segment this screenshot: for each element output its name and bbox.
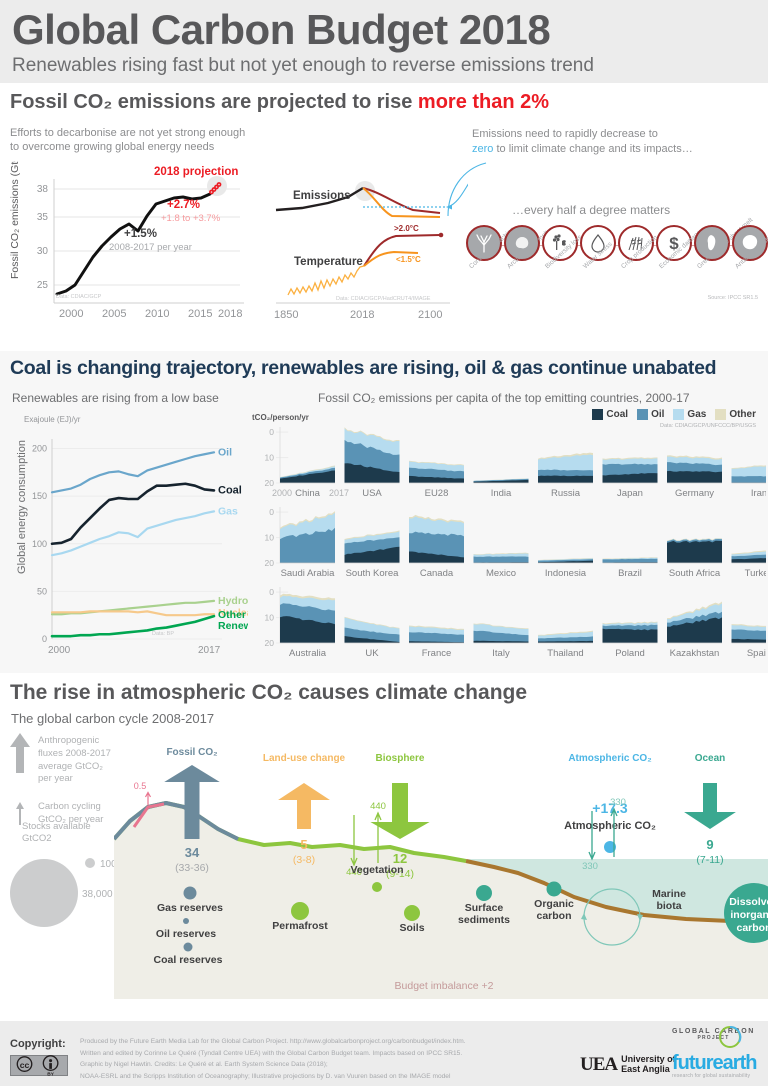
- flux-label-fossil-co: Fossil CO₂: [166, 747, 217, 758]
- section-carbon-cycle: The rise in atmospheric CO₂ causes clima…: [0, 673, 768, 1021]
- percapita-country-label-india: India: [491, 488, 512, 499]
- copyright-label: Copyright:: [10, 1038, 66, 1050]
- chart-b-xtick-2: 2100: [418, 309, 442, 321]
- right-note-pre: Emissions need to rapidly decrease to: [472, 128, 658, 140]
- stock-label-marine-biota-1: biota: [656, 900, 681, 912]
- stock-label-dissolved-inorganic-carbon-1: inorganic: [730, 909, 768, 921]
- percapita-ytick-r1-2: 0: [269, 507, 274, 517]
- uea-name: University of East Anglia: [621, 1055, 676, 1075]
- stock-bubble-organic-carbon: [547, 881, 562, 896]
- flux-label-atmospheric-co: Atmospheric CO₂: [568, 753, 651, 764]
- stock-label-vegetation-0: Vegetation: [350, 864, 403, 876]
- flux-value-land-use-change: 5: [300, 837, 307, 852]
- half-degree-note: …every half a degree matters: [512, 203, 670, 217]
- energy-line-oil: [52, 452, 214, 492]
- key-anthropogenic-text: Anthropogenic fluxes 2008-2017 average G…: [38, 731, 111, 786]
- budget-imbalance-label: Budget imbalance +2: [395, 980, 494, 992]
- gcp-logo: GLOBAL CARBON PROJECT: [672, 1028, 755, 1041]
- percapita-area-russia-coal: [538, 476, 593, 483]
- chart-a-xtick-3: 2015: [188, 308, 212, 320]
- stock-bubble-vegetation: [372, 882, 382, 892]
- chart-fossil-emissions: Fossil CO₂ emissions (GtCO₂/yr) 38 35 30…: [4, 161, 272, 326]
- percapita-ytick-r2-0: 20: [265, 638, 275, 648]
- chart-b-source: Data: CDIAC/GCP/HadCRUT4/IMAGE: [336, 296, 431, 302]
- copyright-line-3: NOAA-ESRL and the Scripps Institution of…: [80, 1071, 466, 1083]
- chart-b-temperature-label: Temperature: [294, 256, 363, 268]
- stock-bubble-permafrost: [291, 902, 309, 920]
- percapita-area-spain-coal: [732, 639, 767, 643]
- uea-line-1: University of: [621, 1054, 676, 1064]
- stock-bubble-oil-reserves: [183, 918, 189, 924]
- flux-range-land-use-change: (3-8): [293, 854, 315, 866]
- percapita-ytick-r2-1: 10: [265, 613, 275, 623]
- flux-range-fossil-co: (33-36): [175, 862, 209, 874]
- percapita-country-label-spain: Spain: [747, 648, 766, 659]
- percapita-country-label-mexico: Mexico: [486, 568, 516, 579]
- page-title: Global Carbon Budget 2018: [12, 8, 756, 52]
- energy-xtick-0: 2000: [48, 645, 71, 656]
- flux-range-ocean: (7-11): [696, 854, 723, 866]
- stock-bubble-soils: [404, 905, 420, 921]
- stock-bubble-large: [10, 859, 78, 927]
- energy-label-oil: Oil: [218, 446, 232, 458]
- ipcc-source: Source: IPCC SR1.5: [708, 295, 758, 301]
- stock-label-soils-0: Soils: [399, 922, 424, 934]
- energy-ytick-4: 0: [42, 634, 47, 644]
- percapita-country-label-kazakhstan: Kazakhstan: [670, 648, 720, 659]
- flux-value-ocean: 9: [706, 837, 713, 852]
- right-note-zero: zero: [472, 143, 493, 155]
- stock-label-organic-carbon-0: Organic: [534, 898, 574, 910]
- energy-label-hydro: Hydro: [218, 595, 248, 607]
- percapita-country-label-usa: USA: [362, 488, 382, 499]
- copyright-line-0: Produced by the Future Earth Media Lab f…: [80, 1036, 466, 1048]
- percapita-country-label-russia: Russia: [551, 488, 581, 499]
- stocks-key-label: Stocks available GtCO2: [22, 821, 91, 846]
- chart-b-xtick-1: 2018: [350, 309, 374, 321]
- section3-heading: The rise in atmospheric CO₂ causes clima…: [10, 681, 527, 705]
- energy-source: Data: BP: [152, 631, 174, 637]
- stock-label-surface-sediments-1: sediments: [458, 914, 510, 926]
- section1-right-note: Emissions need to rapidly decrease to ze…: [472, 127, 693, 157]
- flux-arrow-ocean: [684, 783, 736, 829]
- section-energy: Coal is changing trajectory, renewables …: [0, 351, 768, 673]
- flux-range-atmospheric-co: Atmospheric CO₂: [564, 820, 656, 832]
- key-big-arrow-icon: [8, 731, 32, 775]
- page-subtitle: Renewables rising fast but not yet enoug…: [12, 56, 756, 77]
- carbon-cycle-diagram: 0.5Fossil CO₂34(33-36)Land-use change5(3…: [114, 721, 768, 1011]
- cc-by-icon: cc BY: [11, 1055, 67, 1076]
- section1-heading: Fossil CO₂ emissions are projected to ri…: [10, 91, 549, 114]
- chart-a-ytick-3: 25: [37, 280, 49, 291]
- percapita-xtick-last: 2017: [329, 488, 349, 498]
- section2-heading: Coal is changing trajectory, renewables …: [10, 357, 716, 380]
- percapita-country-label-uk: UK: [365, 648, 379, 659]
- energy-label-other-renewables-1: Renewables: [218, 620, 248, 632]
- uea-mark: UEA: [580, 1054, 617, 1076]
- percapita-xtick-first: 2000: [272, 488, 292, 498]
- gcp-ring-icon: [668, 1026, 754, 1048]
- svg-text:cc: cc: [20, 1060, 30, 1070]
- chart-a-xtick-1: 2005: [102, 308, 126, 320]
- chart-percapita-grid: 201002010020100ChinaUSAEU28IndiaRussiaJa…: [246, 415, 766, 665]
- stock-label-gas-reserves-0: Gas reserves: [157, 902, 223, 914]
- chart-b-hot-label: >2.0°C: [394, 224, 419, 233]
- future-earth-name: futurearth: [672, 1053, 756, 1073]
- chart-a-xtick-0: 2000: [59, 308, 83, 320]
- percapita-ytick-r0-1: 10: [265, 453, 275, 463]
- percapita-country-label-thailand: Thailand: [547, 648, 583, 659]
- chart-a-trend: +1.5%: [124, 228, 157, 240]
- chart-a-xtick-2: 2010: [145, 308, 169, 320]
- chart-scenarios: 1850 2018 2100 Emissions >2.0°C <1.5°C T…: [268, 161, 468, 326]
- percapita-country-label-turkey: Turkey: [745, 568, 766, 579]
- percapita-country-label-south-korea: South Korea: [346, 568, 400, 579]
- section2-subtitle-right: Fossil CO₂ emissions per capita of the t…: [318, 391, 690, 405]
- flux-label-biosphere: Biosphere: [376, 753, 425, 764]
- copyright-line-1: Written and edited by Corinne Le Quéré (…: [80, 1048, 466, 1060]
- stock-label-coal-reserves-0: Coal reserves: [154, 954, 223, 966]
- flux-label-ocean: Ocean: [695, 753, 726, 764]
- stocks-key-bubbles: 1000 38,000: [8, 851, 118, 931]
- cycle-value-ocean-up: 330: [610, 797, 626, 808]
- stock-label-oil-reserves-0: Oil reserves: [156, 928, 216, 940]
- zero-curve-connector: [446, 161, 516, 221]
- energy-ytick-0: 200: [32, 444, 47, 454]
- stock-bubble-surface-sediments: [476, 885, 492, 901]
- cycle-arrow-ocean-down: [589, 811, 595, 859]
- chart-a-ytick-1: 35: [37, 212, 49, 223]
- section1-heading-plain: Fossil CO₂ emissions are projected to ri…: [10, 91, 418, 113]
- energy-ytick-3: 50: [37, 586, 47, 596]
- copyright-text: Produced by the Future Earth Media Lab f…: [80, 1036, 466, 1082]
- percapita-ytick-r0-2: 0: [269, 427, 274, 437]
- section1-left-note: Efforts to decarbonise are not yet stron…: [10, 127, 245, 155]
- fossil-small-flux-value: 0.5: [134, 781, 147, 791]
- section1-heading-highlight: more than 2%: [418, 91, 549, 113]
- percapita-area-south-africa-coal: [667, 541, 722, 563]
- percapita-area-germany-coal: [667, 471, 722, 483]
- flux-value-fossil-co: 34: [185, 845, 200, 860]
- uea-line-2: East Anglia: [621, 1064, 670, 1074]
- percapita-country-label-indonesia: Indonesia: [545, 568, 587, 579]
- percapita-country-label-canada: Canada: [420, 568, 454, 579]
- chart-b-cool-label: <1.5°C: [396, 255, 421, 264]
- percapita-country-label-australia: Australia: [289, 648, 327, 659]
- svg-text:BY: BY: [47, 1072, 54, 1076]
- percapita-ytick-r1-1: 10: [265, 533, 275, 543]
- energy-line-nuclear: [52, 611, 214, 615]
- energy-ytick-1: 150: [32, 491, 47, 501]
- creative-commons-badge: cc BY: [10, 1055, 68, 1076]
- energy-label-gas: Gas: [218, 505, 238, 517]
- chart-a-pct: +2.7%: [167, 199, 200, 211]
- percapita-country-label-south-africa: South Africa: [669, 568, 721, 579]
- chart-b-emissions-label: Emissions: [293, 190, 351, 202]
- flux-arrow-land-use-change: [278, 783, 330, 829]
- cycle-value-ocean-down: 330: [582, 861, 598, 872]
- uea-logo: UEA University of East Anglia: [580, 1054, 676, 1076]
- copyright-line-2: Graphic by Nigel Hawtin. Credits: Le Qué…: [80, 1059, 466, 1071]
- chart-a-source: Data: CDIAC/GCP: [56, 294, 102, 300]
- hot-endpoint: [439, 233, 444, 238]
- flux-label-land-use-change: Land-use change: [263, 753, 346, 764]
- percapita-ytick-r2-2: 0: [269, 587, 274, 597]
- chart-a-ylabel: Fossil CO₂ emissions (GtCO₂/yr): [9, 161, 21, 279]
- energy-ytick-2: 100: [32, 539, 47, 549]
- cycle-value-biosphere-up: 440: [370, 801, 386, 812]
- percapita-country-label-japan: Japan: [617, 488, 643, 499]
- energy-line-other-renewables: [52, 616, 214, 636]
- percapita-country-label-france: France: [422, 648, 452, 659]
- stock-label-marine-biota-0: Marine: [652, 888, 686, 900]
- stock-label-permafrost-0: Permafrost: [272, 920, 328, 932]
- impact-icon-row: Coral reef bleaching Arctic sea-ice melt…: [466, 225, 762, 267]
- stock-label-dissolved-inorganic-carbon-0: Dissolved: [729, 896, 768, 908]
- fossil-small-arrow-icon: [146, 792, 151, 805]
- chart-a-ytick-0: 38: [37, 184, 49, 195]
- percapita-ytick-r1-0: 20: [265, 558, 275, 568]
- percapita-ytick-r0-0: 20: [265, 478, 275, 488]
- percapita-country-label-poland: Poland: [615, 648, 645, 659]
- right-note-post: to limit climate change and its impacts…: [493, 143, 692, 155]
- percapita-area-iran-oil: [732, 476, 767, 483]
- percapita-country-label-iran: Iran: [751, 488, 766, 499]
- future-earth-tagline: research for global sustainability: [672, 1073, 756, 1079]
- percapita-country-label-germany: Germany: [675, 488, 714, 499]
- chart-a-trend-sub: 2008-2017 per year: [109, 242, 192, 253]
- percapita-country-label-china: China: [295, 488, 321, 499]
- percapita-country-label-brazil: Brazil: [618, 568, 642, 579]
- energy-xtick-1: 2017: [198, 645, 221, 656]
- stock-label-dissolved-inorganic-carbon-2: carbon: [736, 922, 768, 934]
- stock-bubble-small: [85, 858, 95, 868]
- stock-bubble-gas-reserves: [184, 886, 197, 899]
- section-emissions: Fossil CO₂ emissions are projected to ri…: [0, 83, 768, 351]
- percapita-country-label-italy: Italy: [492, 648, 510, 659]
- chart-a-range: +1.8 to +3.7%: [161, 213, 221, 224]
- stock-large-value: 38,000: [82, 889, 113, 900]
- chart-a-ytick-2: 30: [37, 246, 49, 257]
- key-anthropogenic: Anthropogenic fluxes 2008-2017 average G…: [8, 731, 118, 786]
- chart-a-xtick-4: 2018: [218, 308, 242, 320]
- stock-bubble-coal-reserves: [184, 942, 193, 951]
- section2-subtitle-left: Renewables are rising from a low base: [12, 391, 219, 405]
- chart-a-projection-label: 2018 projection: [154, 166, 238, 178]
- chart-global-energy: 200150100500OilCoalGasHydroNuclearOtherR…: [18, 421, 248, 661]
- chart-b-xtick-0: 1850: [274, 309, 298, 321]
- percapita-country-label-saudi-arabia: Saudi Arabia: [281, 568, 336, 579]
- stock-label-surface-sediments-0: Surface: [465, 902, 504, 914]
- energy-label-coal: Coal: [218, 484, 242, 496]
- future-earth-logo: futurearth research for global sustainab…: [672, 1053, 756, 1079]
- page-header: Global Carbon Budget 2018 Renewables ris…: [0, 0, 768, 83]
- percapita-area-poland-coal: [603, 629, 658, 643]
- stock-label-organic-carbon-1: carbon: [536, 910, 571, 922]
- percapita-area-mexico-oil: [474, 556, 529, 563]
- percapita-country-label-eu28: EU28: [425, 488, 449, 499]
- infographic-page: Global Carbon Budget 2018 Renewables ris…: [0, 0, 768, 1086]
